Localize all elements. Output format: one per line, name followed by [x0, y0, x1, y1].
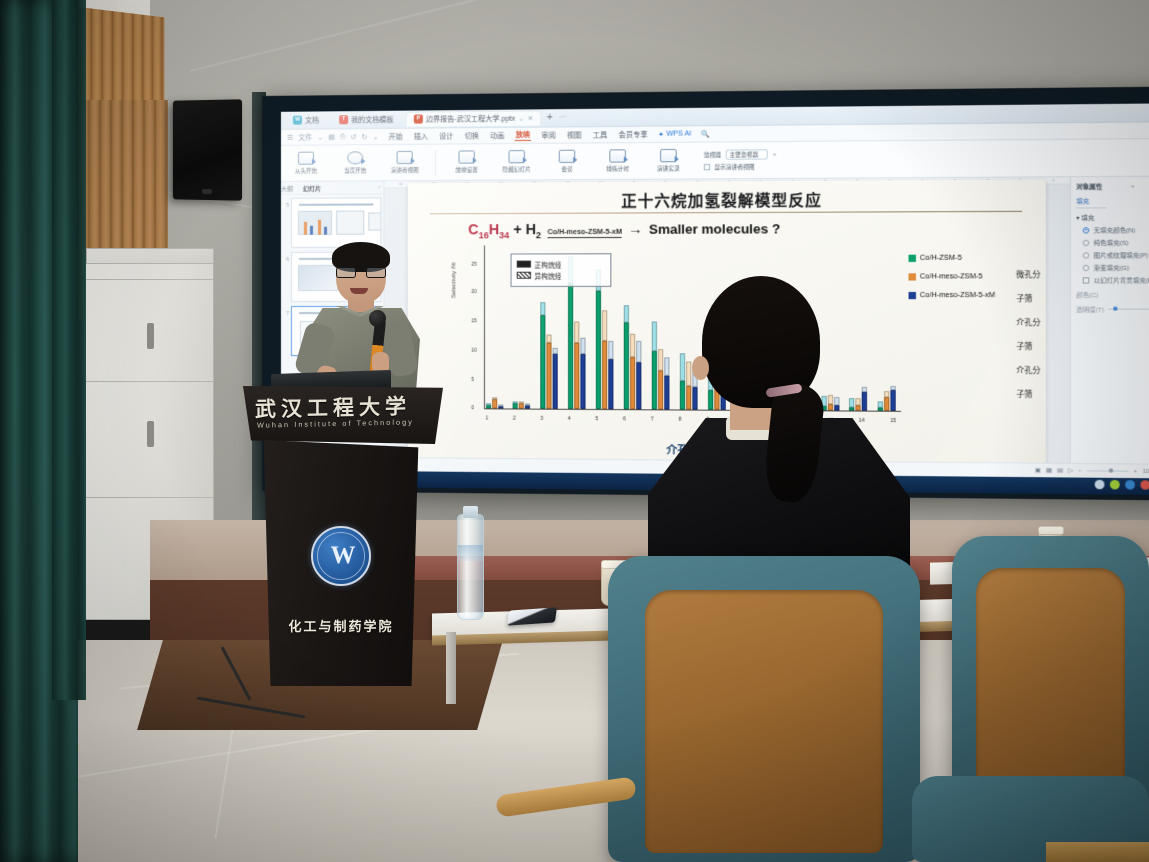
- template-icon: T: [339, 115, 348, 124]
- ribbon-button-from-current[interactable]: 当页开始: [336, 151, 374, 174]
- radio-icon[interactable]: [1083, 252, 1090, 258]
- chart-x-tick: 4: [568, 415, 571, 421]
- radio-icon[interactable]: [1083, 264, 1090, 270]
- ribbon-label: 演讲实录: [657, 164, 680, 172]
- chevron-down-icon[interactable]: ⌄: [772, 151, 777, 157]
- ribbon-button-record[interactable]: 演讲实录: [649, 149, 689, 173]
- option-label: 纯色填充(S): [1094, 238, 1129, 247]
- zoom-knob[interactable]: [1108, 468, 1112, 472]
- redo-icon[interactable]: ↻: [362, 133, 368, 141]
- tab-slides[interactable]: 幻灯片: [303, 183, 321, 192]
- system-tray: [1095, 480, 1149, 490]
- chart-bar-normal: [519, 404, 524, 408]
- tray-ime-icon[interactable]: [1125, 480, 1135, 490]
- catalyst-label: Co/H-meso-ZSM-5-xM: [547, 228, 622, 235]
- transparency-label: 透明度(T): [1076, 304, 1104, 313]
- close-icon[interactable]: ✕: [527, 114, 533, 122]
- quick-access-toolbar: ☰ 文件 ⌄ ▤ ⎙ ↺ ↻ ⌄: [287, 132, 378, 143]
- thumbnail-number: 7: [283, 306, 289, 317]
- legend-label-series-1: Co/H-ZSM-5: [920, 254, 962, 261]
- tray-green-icon[interactable]: [1110, 480, 1120, 489]
- ribbon-button-rehearse[interactable]: 排练计时: [598, 149, 637, 173]
- ruler-tick: 16: [399, 182, 404, 186]
- water-bottle: [457, 514, 484, 620]
- save-icon[interactable]: ▤: [328, 133, 335, 141]
- university-logo: W: [311, 526, 371, 586]
- slider-knob[interactable]: [1113, 307, 1117, 311]
- chevron-down-icon[interactable]: ⌄: [317, 133, 323, 141]
- ribbon-label: 演讲者视图: [391, 166, 419, 174]
- chart-bar-normal: [498, 406, 503, 408]
- chart-bar-group: [624, 305, 642, 409]
- legend-label-series-3: Co/H-meso-ZSM-5-xM: [920, 291, 995, 298]
- thumbnail-number: 5: [283, 198, 289, 209]
- color-label: 颜色(C): [1076, 290, 1149, 299]
- fill-option-none[interactable]: 无填充颜色(N): [1083, 225, 1149, 235]
- chart-bar-normal: [630, 357, 635, 409]
- chair-front-wood-trim: [1046, 842, 1149, 862]
- wall-panel-left: [86, 248, 214, 264]
- record-icon: [660, 149, 677, 162]
- chart-bar-normal: [574, 343, 579, 408]
- chart-x-tick: 6: [623, 416, 626, 422]
- sorter-view-icon[interactable]: ▦: [1046, 467, 1052, 473]
- undo-icon[interactable]: ↺: [351, 133, 357, 141]
- chart-y-axis-label: Selectivity /%: [451, 261, 457, 297]
- chart-bar-normal: [553, 354, 558, 408]
- chart-series-legend: Co/H-ZSM-5 Co/H-meso-ZSM-5 Co/H-meso-ZSM…: [908, 254, 995, 310]
- legend-label: 正构烷烃: [535, 259, 562, 269]
- reading-view-icon[interactable]: ▤: [1057, 467, 1063, 473]
- slideshow-settings-icon: [458, 150, 474, 163]
- window-curtain-inner: [52, 0, 86, 700]
- chart-bar-normal: [608, 359, 613, 408]
- fill-option-gradient[interactable]: 渐变填充(G): [1083, 263, 1149, 273]
- thumbnail-item[interactable]: 5: [283, 197, 381, 248]
- zoom-value[interactable]: 100%: [1143, 468, 1149, 474]
- equation-catalyst: Co/H-meso-ZSM-5-xM: [547, 228, 622, 237]
- monitor-select[interactable]: 主要监视器: [725, 149, 767, 160]
- chart-bar-iso: [541, 302, 546, 316]
- equation-product: Smaller molecules ?: [649, 221, 780, 237]
- chart-bar-normal: [492, 399, 497, 408]
- normal-view-icon[interactable]: ▣: [1035, 467, 1041, 473]
- chart-x-tick: 2: [513, 415, 516, 421]
- bottle-cap: [463, 506, 478, 518]
- ribbon-button-meeting[interactable]: 会议: [547, 150, 586, 174]
- doc-tab-2[interactable]: P 边界报告-武汉工程大学.pptx ⌄ ✕: [407, 111, 541, 126]
- ribbon-label: 隐藏幻灯片: [503, 165, 531, 173]
- conference-room-photo: W 文档 T 我的文档模板 P 边界报告-武汉工程大学.pptx ⌄ ✕ + ·…: [0, 0, 1149, 862]
- doc-tab-label: 边界报告-武汉工程大学.pptx: [426, 113, 515, 124]
- option-label: 图片或纹理填充(P): [1094, 250, 1148, 260]
- reaction-equation[interactable]: C16H34 + H2 Co/H-meso-ZSM-5-xM → Smaller…: [468, 219, 1024, 240]
- chart-bar-iso: [574, 321, 579, 343]
- ribbon-label: 从头开始: [295, 167, 317, 175]
- doc-tab-label: 文档: [305, 115, 319, 125]
- slideshow-icon[interactable]: ▷: [1068, 468, 1073, 474]
- chart-y-tick: 25: [471, 261, 477, 267]
- chart-bar-iso: [581, 338, 586, 354]
- quick-access-more-icon[interactable]: ⌄: [372, 133, 378, 141]
- audience-ear: [692, 356, 709, 380]
- presenter-view-checkbox[interactable]: [704, 164, 710, 170]
- restore-icon[interactable]: ⌄: [518, 114, 524, 122]
- tab-review[interactable]: 审阅: [540, 130, 556, 140]
- chart-y-axis: [483, 245, 484, 409]
- chart-bar-normal: [525, 405, 530, 408]
- chart-bar-group: [513, 401, 530, 408]
- ribbon-separator: [435, 149, 436, 175]
- hide-slide-icon: [508, 150, 524, 163]
- chart-x-tick: 5: [595, 416, 598, 422]
- search-icon[interactable]: 🔍: [701, 130, 710, 138]
- legend-swatch-series-1: [908, 254, 915, 261]
- chart-bar-iso: [636, 340, 641, 362]
- ppt-icon: P: [414, 115, 423, 124]
- equation-arrow: →: [628, 220, 643, 236]
- tab-insert[interactable]: 插入: [413, 131, 429, 141]
- ribbon-button-from-start[interactable]: 从头开始: [287, 152, 325, 175]
- chart-bar-group: [596, 269, 614, 408]
- thumbnail-preview[interactable]: [291, 197, 381, 248]
- play-from-start-icon: [298, 152, 314, 165]
- chart-bar-iso: [624, 305, 629, 322]
- auditorium-chair-left: [608, 556, 920, 862]
- option-label: 以幻灯片背景填充(B): [1094, 275, 1149, 284]
- chart-x-tick: 3: [540, 415, 543, 421]
- ruler-tick: 4: [1052, 178, 1054, 182]
- radio-icon[interactable]: [1083, 239, 1090, 245]
- legend-label-series-2: Co/H-meso-ZSM-5: [920, 273, 983, 280]
- chart-bar-normal: [485, 406, 490, 408]
- doc-tab-0[interactable]: W 文档: [286, 113, 326, 127]
- slide-title[interactable]: 正十六烷加氢裂解模型反应: [407, 187, 1045, 212]
- presenter-view-icon: [397, 151, 413, 164]
- chevron-left-icon[interactable]: ‹: [378, 184, 380, 190]
- chart-bar-normal: [596, 291, 601, 408]
- radio-icon[interactable]: [1083, 227, 1090, 233]
- tab-view[interactable]: 视图: [566, 130, 582, 140]
- microphone-head: [369, 310, 386, 327]
- ribbon-label: 放映设置: [455, 166, 477, 174]
- print-icon[interactable]: ⎙: [340, 133, 346, 141]
- presenter-view-checkbox-label: 显示演讲者视图: [714, 163, 754, 171]
- tab-design[interactable]: 设计: [438, 131, 454, 141]
- lectern-top: 武汉工程大学 Wuhan Institute of Technology: [243, 386, 443, 444]
- annotation-1: 介孔分子筛: [1016, 310, 1045, 358]
- chart-bar-normal: [602, 340, 607, 408]
- checkbox-icon[interactable]: [1083, 277, 1090, 283]
- fill-option-slide-background[interactable]: 以幻灯片背景填充(B): [1083, 275, 1149, 284]
- lectern-body: W 化工与制药学院: [257, 440, 425, 686]
- tab-membership[interactable]: 会员专享: [618, 129, 649, 139]
- zoom-out-icon[interactable]: −: [1078, 468, 1081, 474]
- tab-start[interactable]: 开始: [388, 131, 404, 141]
- play-from-current-icon: [347, 151, 363, 164]
- ai-sparkle-icon: ✦: [658, 130, 664, 138]
- transparency-slider[interactable]: 透明度(T) 0 %: [1076, 304, 1149, 313]
- monitor-label: 监视器: [704, 151, 721, 159]
- chart-y-tick: 0: [471, 405, 474, 411]
- chart-bar-group: [541, 302, 558, 408]
- option-label: 无填充颜色(N): [1094, 225, 1136, 235]
- department-name: 化工与制药学院: [257, 616, 425, 635]
- slide-annotations: 微孔分子筛 介孔分子筛 介孔分子筛: [1016, 262, 1045, 406]
- ribbon-label: 会议: [561, 165, 572, 173]
- chart-bar-normal: [513, 403, 518, 408]
- chevron-down-icon[interactable]: ⌄: [1130, 182, 1135, 189]
- chart-y-tick: 10: [471, 347, 477, 353]
- fill-option-solid[interactable]: 纯色填充(S): [1083, 237, 1149, 247]
- lectern: 武汉工程大学 Wuhan Institute of Technology W 化…: [243, 386, 443, 686]
- desk-leg: [446, 632, 456, 704]
- file-menu-button[interactable]: 文件: [298, 132, 312, 142]
- tab-tools[interactable]: 工具: [592, 130, 609, 140]
- tray-red-icon[interactable]: [1140, 480, 1149, 490]
- thumbnail-number: 6: [283, 252, 289, 263]
- glasses-icon: [336, 267, 386, 278]
- chart-y-tick: 5: [471, 376, 474, 382]
- ribbon-button-hide-slide[interactable]: 隐藏幻灯片: [497, 150, 536, 174]
- chart-bar-normal: [624, 322, 629, 408]
- chart-bar-normal: [541, 316, 546, 408]
- tab-slideshow[interactable]: 放映: [515, 130, 531, 141]
- annotation-2: 介孔分子筛: [1016, 358, 1045, 406]
- chart-inner-legend: 正构烷烃 异构烷烃: [510, 253, 611, 287]
- chart-bar-iso: [547, 335, 552, 343]
- object-properties-pane: 对象属性 ⌄ ✕ 填充 ▾ 填充 无填充颜色(N) 纯色填充(S): [1070, 177, 1149, 464]
- rehearse-timing-icon: [609, 149, 626, 162]
- hamburger-icon[interactable]: ☰: [287, 133, 293, 141]
- navigator-tabs: 大纲 幻灯片 ‹: [281, 181, 383, 195]
- legend-swatch-iso: [516, 272, 530, 279]
- task-pane-title: 对象属性: [1076, 181, 1102, 191]
- chart-bar-normal: [547, 343, 552, 408]
- zoom-slider[interactable]: [1087, 470, 1128, 471]
- tab-outline[interactable]: 大纲: [281, 183, 293, 192]
- chart-bar-group: [485, 397, 502, 408]
- chart-y-tick: 20: [471, 288, 477, 294]
- doc-tab-label: 我的文档模板: [351, 114, 393, 124]
- chart-y-tick: 15: [471, 318, 477, 324]
- slider-track[interactable]: [1107, 309, 1149, 310]
- university-name-en: Wuhan Institute of Technology: [257, 417, 414, 429]
- ribbon-label: 排练计时: [606, 165, 629, 173]
- fill-option-picture[interactable]: 图片或纹理填充(P): [1083, 250, 1149, 260]
- tray-chevron-icon[interactable]: [1095, 480, 1105, 489]
- chart-bar-normal: [581, 354, 586, 408]
- equation-reactant: C16H34 + H2: [468, 220, 541, 239]
- ribbon-monitor-group: 监视器 主要监视器 ⌄ 显示演讲者视图: [704, 149, 777, 171]
- meeting-icon: [559, 150, 575, 163]
- wps-ai-button[interactable]: ✦ WPS AI: [658, 130, 691, 138]
- chart-x-tick: 1: [485, 415, 488, 421]
- legend-swatch-normal: [516, 261, 530, 268]
- bottle-label: [458, 545, 483, 561]
- chart-bar-iso: [602, 310, 607, 340]
- doc-tab-1[interactable]: T 我的文档模板: [332, 112, 401, 127]
- fill-group-label: ▾ 填充: [1076, 212, 1149, 222]
- chart-bar-iso: [608, 340, 613, 359]
- chart-bar-iso: [630, 334, 635, 357]
- tab-transition[interactable]: 切换: [464, 131, 480, 141]
- tab-more-button[interactable]: ···: [559, 114, 566, 121]
- wps-doc-icon: W: [293, 116, 302, 125]
- new-tab-button[interactable]: +: [547, 112, 553, 123]
- option-label: 渐变填充(G): [1094, 263, 1130, 272]
- ribbon-button-presenter-view[interactable]: 演讲者视图: [385, 151, 423, 174]
- ai-label: WPS AI: [666, 130, 691, 137]
- legend-label: 异构烷烃: [535, 270, 562, 280]
- zoom-in-icon[interactable]: +: [1134, 468, 1138, 474]
- wall-speaker: [173, 99, 242, 200]
- task-pane-tab-fill[interactable]: 填充: [1076, 196, 1106, 209]
- chart-bar-normal: [636, 362, 641, 408]
- ribbon-button-slideshow-settings[interactable]: 放映设置: [447, 150, 486, 174]
- task-pane-header: 对象属性 ⌄ ✕: [1076, 181, 1149, 191]
- annotation-0: 微孔分子筛: [1016, 262, 1045, 310]
- ribbon-slideshow-tab: 从头开始 当页开始 演讲者视图 放映设置: [281, 139, 1149, 182]
- ribbon-label: 当页开始: [344, 166, 366, 174]
- status-right-group: ▣ ▦ ▤ ▷ − + 100% ⛶: [1035, 467, 1149, 475]
- chart-bar-normal: [568, 283, 573, 408]
- tab-animation[interactable]: 动画: [489, 130, 505, 140]
